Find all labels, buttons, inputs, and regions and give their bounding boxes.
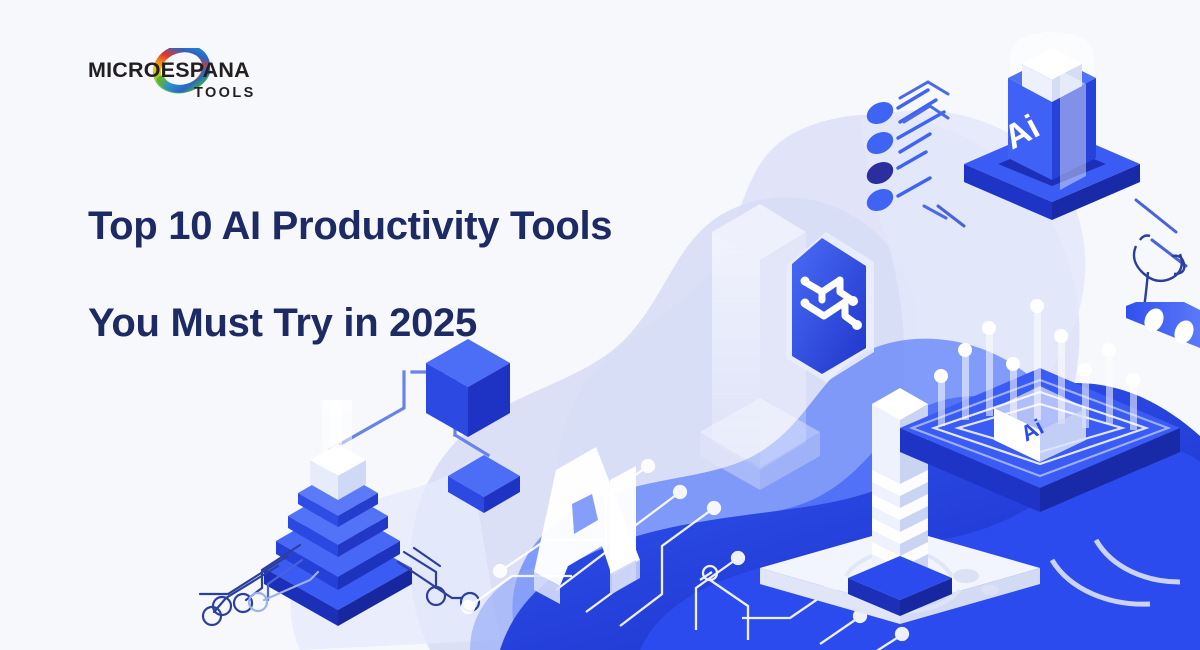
brand-sub-name: TOOLS [194,85,256,101]
hero-banner: Ai Ai [0,0,1200,650]
page-title: Top 10 AI Productivity Tools You Must Tr… [88,153,708,397]
page-title-line1: Top 10 AI Productivity Tools [88,202,708,251]
brand-name: MICROESPANA [88,58,250,82]
brand-logo[interactable]: MICROESPANA TOOLS [88,48,278,110]
brand-logo-mark: MICROESPANA TOOLS [88,48,278,110]
page-title-line2: You Must Try in 2025 [88,299,708,348]
